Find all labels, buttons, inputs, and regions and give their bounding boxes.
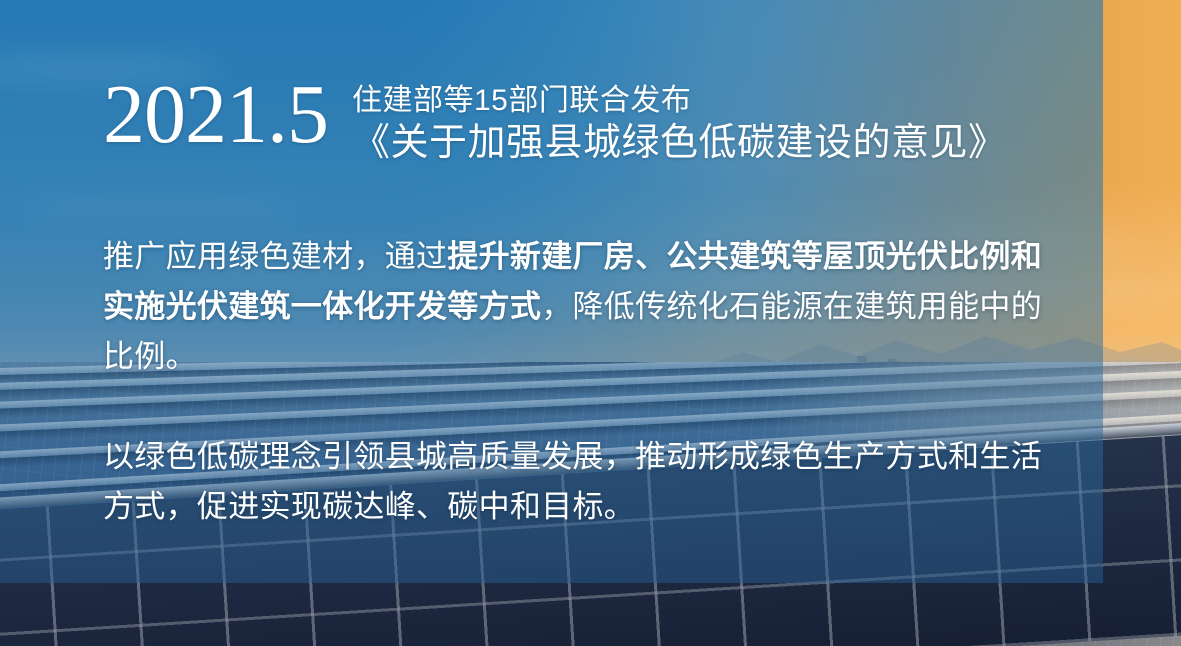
paragraph-policy-goals: 以绿色低碳理念引领县城高质量发展，推动形成绿色生产方式和生活方式，促进实现碳达峰… [103, 432, 1053, 532]
date-label: 2021.5 [103, 72, 328, 158]
issuer-line: 住建部等15部门联合发布 [352, 82, 1007, 120]
poster-content: 2021.5 住建部等15部门联合发布 《关于加强县城绿色低碳建设的意见》 推广… [0, 0, 1181, 646]
title-block: 住建部等15部门联合发布 《关于加强县城绿色低碳建设的意见》 [352, 72, 1007, 166]
paragraph-policy-measures: 推广应用绿色建材，通过提升新建厂房、公共建筑等屋顶光伏比例和实施光伏建筑一体化开… [103, 232, 1053, 382]
headline: 2021.5 住建部等15部门联合发布 《关于加强县城绿色低碳建设的意见》 [103, 72, 1007, 166]
paragraph-text: 推广应用绿色建材，通过提升新建厂房、公共建筑等屋顶光伏比例和实施光伏建筑一体化开… [103, 232, 1053, 382]
document-title: 《关于加强县城绿色低碳建设的意见》 [352, 120, 1007, 166]
paragraph-text: 以绿色低碳理念引领县城高质量发展，推动形成绿色生产方式和生活方式，促进实现碳达峰… [103, 432, 1053, 532]
policy-poster: 2021.5 住建部等15部门联合发布 《关于加强县城绿色低碳建设的意见》 推广… [0, 0, 1181, 646]
